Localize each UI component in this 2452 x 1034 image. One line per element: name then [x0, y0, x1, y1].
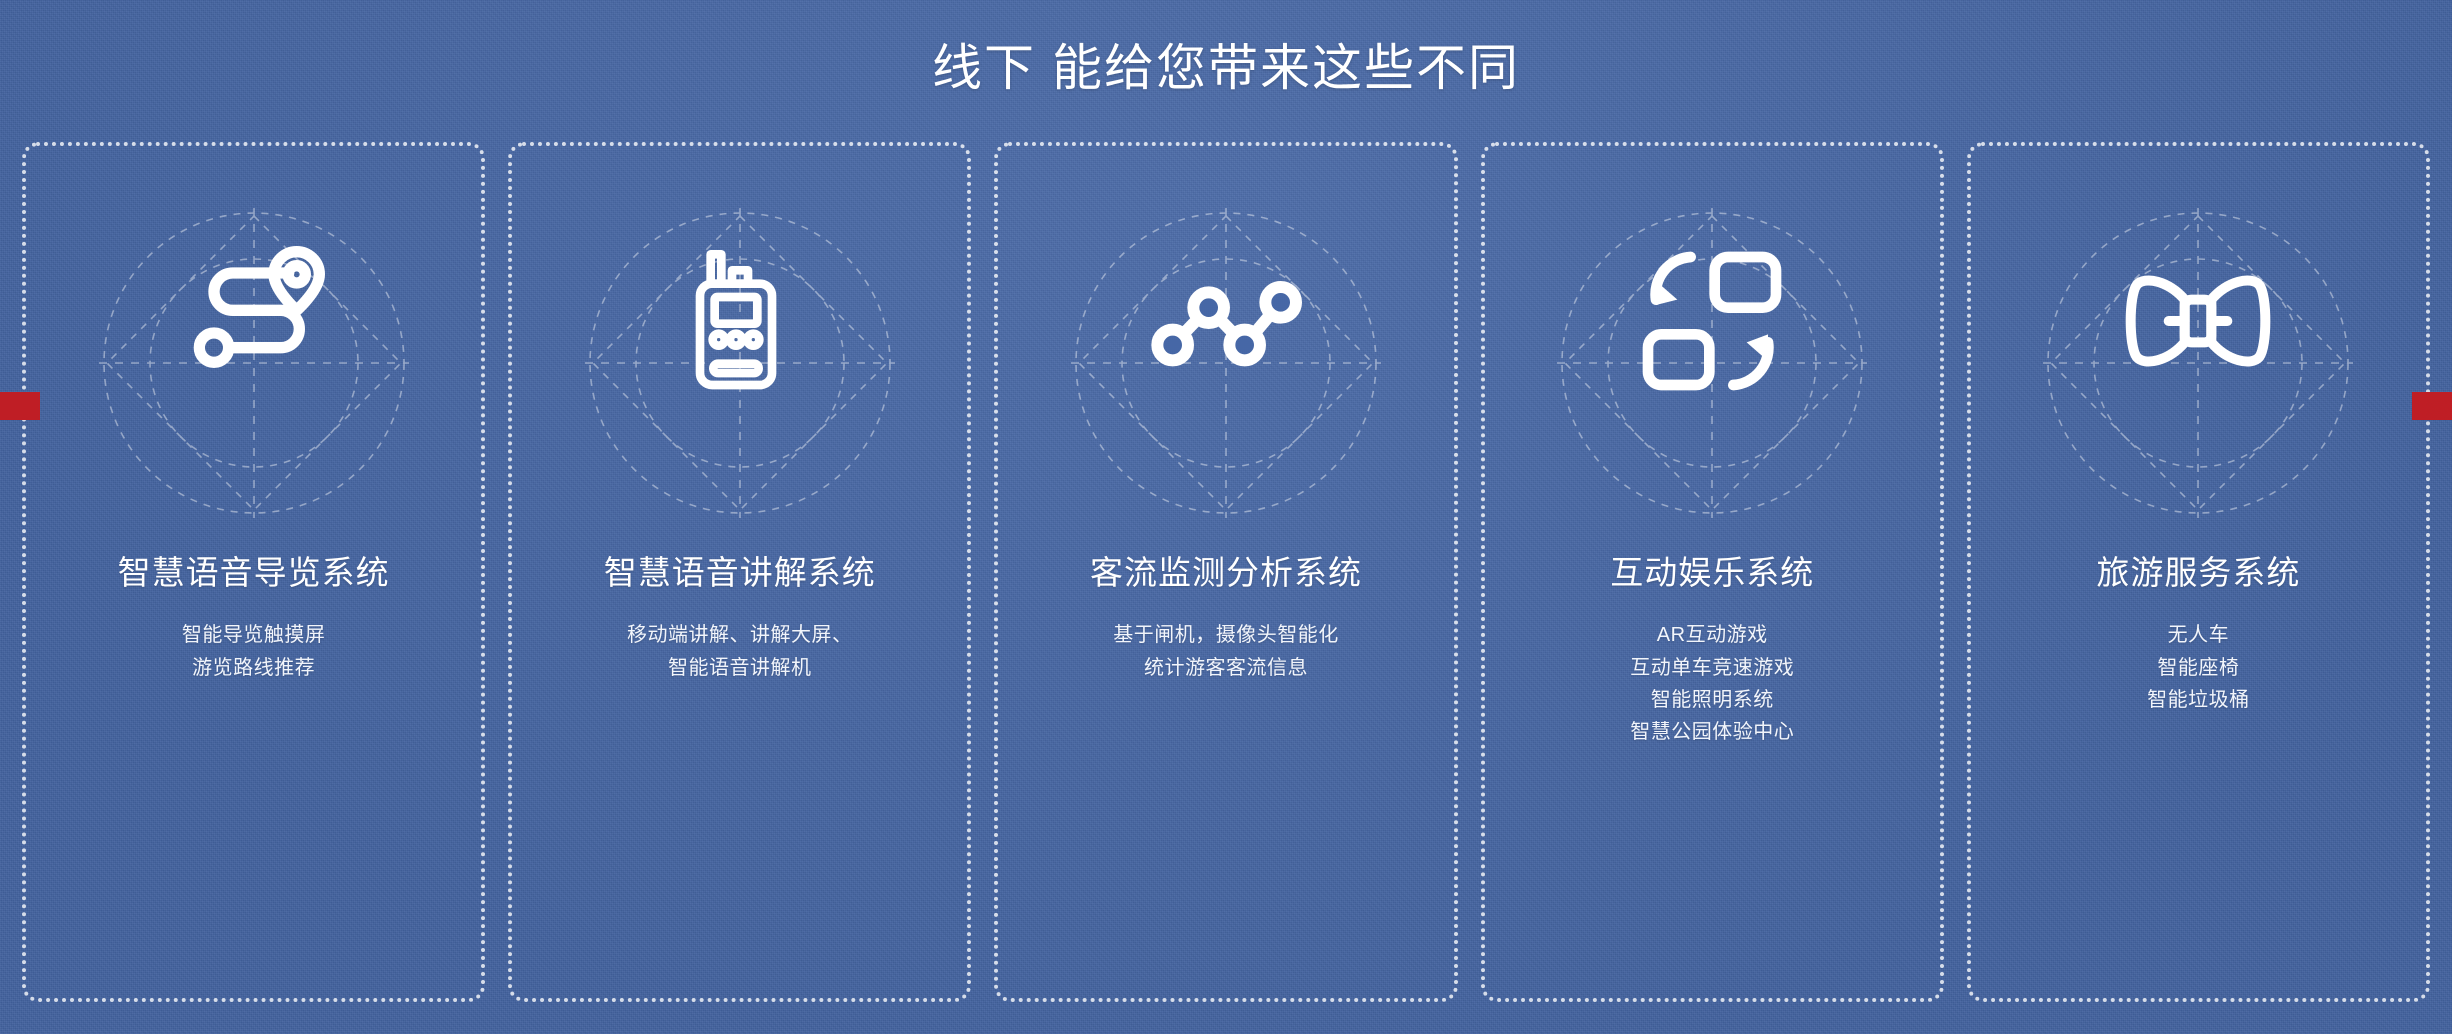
- card-detail-line: 智能照明系统: [1630, 684, 1794, 716]
- card-detail-lines: 移动端讲解、讲解大屏、 智能语音讲解机: [613, 619, 867, 684]
- feature-card-interactive-entertainment[interactable]: 互动娱乐系统 AR互动游戏 互动单车竞速游戏 智能照明系统 智慧公园体验中心: [1481, 142, 1944, 1002]
- card-title: 旅游服务系统: [2096, 552, 2300, 593]
- card-title: 智慧语音讲解系统: [604, 552, 876, 593]
- card-detail-line: 互动单车竞速游戏: [1630, 652, 1794, 684]
- card-detail-line: AR互动游戏: [1630, 619, 1794, 651]
- red-accent-bar-left: [0, 392, 40, 420]
- card-detail-lines: 基于闸机，摄像头智能化 统计游客客流信息: [1099, 619, 1353, 684]
- line-chart-nodes-icon: [1146, 241, 1306, 401]
- card-detail-lines: AR互动游戏 互动单车竞速游戏 智能照明系统 智慧公园体验中心: [1616, 619, 1808, 749]
- walkie-talkie-audio-guide-icon: [660, 241, 820, 401]
- red-accent-bar-right: [2412, 392, 2452, 420]
- card-detail-line: 智能导览触摸屏: [182, 619, 326, 651]
- route-map-pin-icon: [174, 241, 334, 401]
- card-detail-line: 基于闸机，摄像头智能化: [1113, 619, 1339, 651]
- feature-card-tourism-service[interactable]: 旅游服务系统 无人车 智能座椅 智能垃圾桶: [1967, 142, 2430, 1002]
- card-detail-line: 智慧公园体验中心: [1630, 716, 1794, 748]
- card-detail-lines: 无人车 智能座椅 智能垃圾桶: [2133, 619, 2264, 716]
- card-title: 互动娱乐系统: [1610, 552, 1814, 593]
- exchange-arrows-squares-icon: [1632, 241, 1792, 401]
- feature-card-passenger-flow-analysis[interactable]: 客流监测分析系统 基于闸机，摄像头智能化 统计游客客流信息: [994, 142, 1457, 1002]
- card-detail-line: 智能座椅: [2147, 652, 2250, 684]
- bow-tie-icon: [2118, 241, 2278, 401]
- card-title: 客流监测分析系统: [1090, 552, 1362, 593]
- card-detail-line: 移动端讲解、讲解大屏、: [627, 619, 853, 651]
- card-detail-line: 无人车: [2147, 619, 2250, 651]
- card-detail-line: 智能垃圾桶: [2147, 684, 2250, 716]
- feature-card-smart-voice-guide[interactable]: 智慧语音导览系统 智能导览触摸屏 游览路线推荐: [22, 142, 485, 1002]
- feature-card-list: 智慧语音导览系统 智能导览触摸屏 游览路线推荐: [22, 142, 2430, 1002]
- card-detail-lines: 智能导览触摸屏 游览路线推荐: [168, 619, 340, 684]
- card-detail-line: 游览路线推荐: [182, 652, 326, 684]
- card-detail-line: 智能语音讲解机: [627, 652, 853, 684]
- feature-card-smart-voice-explanation[interactable]: 智慧语音讲解系统 移动端讲解、讲解大屏、 智能语音讲解机: [508, 142, 971, 1002]
- card-detail-line: 统计游客客流信息: [1113, 652, 1339, 684]
- card-title: 智慧语音导览系统: [118, 552, 390, 593]
- page-title: 线下 能给您带来这些不同: [0, 38, 2452, 98]
